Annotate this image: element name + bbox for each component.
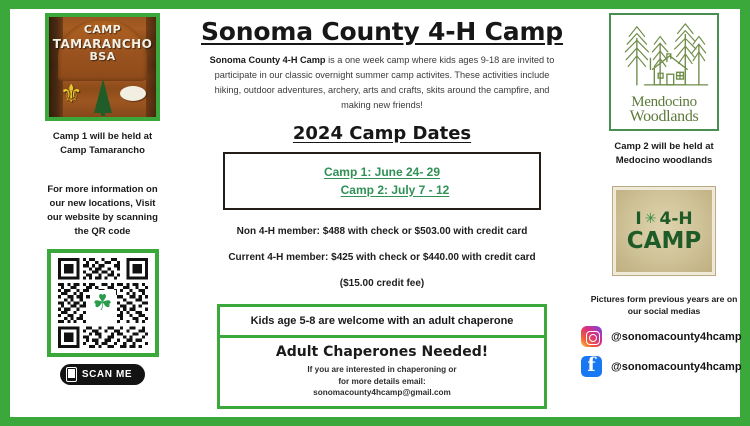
flyer-inner: CAMP TAMARANCHO BSA ⚜ Camp 1 will be hel… [10,9,740,417]
camp2-caption-line-2: Medocino woodlands [614,154,713,168]
qr-code-canvas: ☘ [56,258,150,348]
camp-dates-box: Camp 1: June 24- 29 Camp 2: July 7 - 12 [223,152,541,210]
price-non-member: Non 4-H member: $488 with check or $503.… [237,226,528,237]
sign-letter-i: I [635,209,641,229]
pine-tree-icon [94,79,112,113]
qr-info-line-1: For more information on [47,183,158,197]
left-column: CAMP TAMARANCHO BSA ⚜ Camp 1 will be hel… [10,9,195,417]
price-current-member: Current 4-H member: $425 with check or $… [228,252,535,263]
chaperone-box: Kids age 5-8 are welcome with an adult c… [217,304,547,410]
mendocino-woodlands-logo: Mendocino Woodlands [609,13,719,131]
camp1-caption-line-1: Camp 1 will be held at [53,130,152,144]
sign-line-2: TAMARANCHO [49,37,156,51]
facebook-handle[interactable]: @sonomacounty4hcamp [611,361,742,373]
camp-date-1[interactable]: Camp 1: June 24- 29 [324,165,440,179]
chaperone-subtext: If you are interested in chaperoning or … [224,364,540,400]
chaperone-sub-line-2: for more details email: [224,376,540,388]
camp-date-2[interactable]: Camp 2: July 7 - 12 [341,183,450,197]
camp-tamarancho-photo: CAMP TAMARANCHO BSA ⚜ [45,13,160,121]
qr-info-line-3: our website by scanning [47,211,158,225]
sign-line-1: CAMP [49,24,156,37]
sign-row-top: I ✳ 4-H [635,209,692,229]
camp-description: Sonoma County 4-H Camp is a one week cam… [201,53,563,113]
social-media-heading: Pictures form previous years are on our … [591,293,738,318]
instagram-handle[interactable]: @sonomacounty4hcamp [611,331,742,343]
facebook-icon[interactable] [581,356,602,377]
clover-icon: ☘ [90,290,116,316]
chaperone-email[interactable]: sonomacounty4hcamp@gmail.com [224,387,540,399]
white-oval-shape [120,86,146,101]
page-title: Sonoma County 4-H Camp [201,17,563,46]
sign-line-3: BSA [49,51,156,64]
sign-text-4h: 4-H [659,209,692,229]
flyer-root: CAMP TAMARANCHO BSA ⚜ Camp 1 will be hel… [0,0,750,426]
chaperone-title: Adult Chaperones Needed! [224,344,540,360]
fleur-de-lis-icon: ⚜ [60,80,80,110]
qr-code[interactable]: ☘ [47,249,159,357]
social-head-line-2: our social medias [591,305,738,317]
instagram-row[interactable]: @sonomacounty4hcamp [575,326,750,347]
mendocino-wordmark: Mendocino Woodlands [615,95,713,125]
camp-dates-heading: 2024 Camp Dates [293,123,471,144]
camp1-caption-line-2: Camp Tamarancho [53,144,152,158]
chaperone-sub-line-1: If you are interested in chaperoning or [224,364,540,376]
social-head-line-1: Pictures form previous years are on [591,293,738,305]
chaperone-details: Adult Chaperones Needed! If you are inte… [220,338,544,407]
qr-instructions: For more information on our new location… [47,183,158,240]
camp1-location-caption: Camp 1 will be held at Camp Tamarancho [53,130,152,158]
mendocino-forest-cabin-icon [615,19,713,95]
description-lead: Sonoma County 4-H Camp [210,55,326,65]
kids-age-note: Kids age 5-8 are welcome with an adult c… [220,307,544,338]
camp2-caption-line-1: Camp 2 will be held at [614,140,713,154]
sign-row-camp: CAMP [627,230,701,253]
qr-info-line-2: our new locations, Visit [47,197,158,211]
price-credit-fee: ($15.00 credit fee) [340,278,425,289]
scan-me-badge[interactable]: SCAN ME [60,364,145,385]
camp-tamarancho-sign-text: CAMP TAMARANCHO BSA [49,24,156,64]
i-love-4h-camp-sign: I ✳ 4-H CAMP [613,187,715,275]
instagram-icon[interactable] [581,326,602,347]
center-column: Sonoma County 4-H Camp Sonoma County 4-H… [195,9,569,417]
four-leaf-clover-icon: ✳ [645,211,657,227]
mendocino-word-1: Mendocino [615,95,713,109]
qr-info-line-4: the QR code [47,225,158,239]
mendocino-word-2: Woodlands [615,109,713,124]
scan-me-label: SCAN ME [82,369,132,380]
right-column: Mendocino Woodlands Camp 2 will be held … [569,9,750,417]
facebook-row[interactable]: @sonomacounty4hcamp [575,356,750,377]
phone-icon [66,367,77,382]
camp2-location-caption: Camp 2 will be held at Medocino woodland… [614,140,713,168]
